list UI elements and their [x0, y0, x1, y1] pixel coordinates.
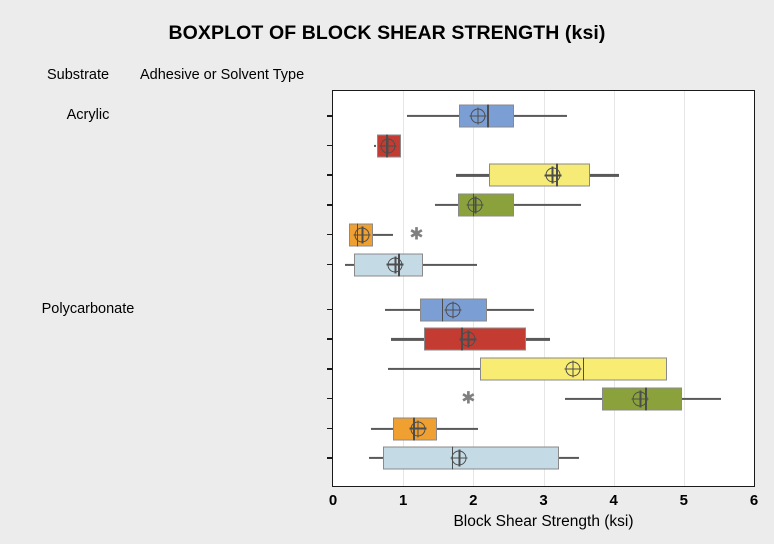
- substrate-column-header: Substrate: [47, 67, 109, 83]
- group-label: Acrylic: [18, 107, 158, 123]
- mean-marker: [565, 362, 580, 377]
- median-line: [583, 358, 585, 381]
- whisker-low: [388, 368, 480, 370]
- mean-marker: [388, 257, 403, 272]
- box-3: [489, 164, 589, 187]
- whisker-low: [369, 457, 382, 459]
- category-tick: [327, 428, 333, 430]
- mean-marker: [545, 168, 560, 183]
- category-tick: [327, 174, 333, 176]
- median-line: [487, 105, 489, 128]
- category-tick: [327, 398, 333, 400]
- gridline: [684, 91, 685, 486]
- adhesive-column-header: Adhesive or Solvent Type: [140, 67, 304, 83]
- whisker-high: [682, 398, 721, 400]
- whisker-high: [526, 338, 550, 340]
- x-tick-label: 0: [329, 492, 337, 509]
- whisker-high: [373, 234, 393, 236]
- group-label: Polycarbonate: [18, 301, 158, 317]
- whisker-high: [559, 457, 579, 459]
- mean-marker: [471, 109, 486, 124]
- outlier-marker: ✱: [409, 226, 423, 243]
- whisker-low: [345, 263, 354, 265]
- whisker-low: [371, 427, 393, 429]
- whisker-high: [514, 115, 567, 117]
- whisker-high: [590, 174, 619, 176]
- mean-marker: [452, 451, 467, 466]
- whisker-high: [487, 309, 535, 311]
- gridline: [544, 91, 545, 486]
- category-tick: [327, 234, 333, 236]
- box-12: [383, 447, 559, 470]
- category-tick: [327, 204, 333, 206]
- mean-marker: [445, 302, 460, 317]
- whisker-low: [407, 115, 459, 117]
- mean-marker: [633, 391, 648, 406]
- x-tick-label: 4: [609, 492, 617, 509]
- gridline: [614, 91, 615, 486]
- x-axis-title: Block Shear Strength (ksi): [332, 513, 755, 531]
- page-title: BOXPLOT OF BLOCK SHEAR STRENGTH (ksi): [0, 22, 774, 45]
- mean-marker: [461, 332, 476, 347]
- median-line: [442, 298, 444, 321]
- whisker-high: [437, 427, 478, 429]
- category-tick: [327, 309, 333, 311]
- whisker-high: [423, 263, 477, 265]
- x-tick-label: 6: [750, 492, 758, 509]
- mean-marker: [468, 198, 483, 213]
- category-tick: [327, 145, 333, 147]
- category-tick: [327, 338, 333, 340]
- plot-area: ✱✱: [332, 90, 755, 487]
- mean-marker: [380, 138, 395, 153]
- whisker-high: [514, 204, 581, 206]
- category-tick: [327, 457, 333, 459]
- outlier-marker: ✱: [461, 390, 475, 407]
- category-tick: [327, 368, 333, 370]
- whisker-low: [565, 398, 602, 400]
- whisker-low: [435, 204, 458, 206]
- boxplot-figure: BOXPLOT OF BLOCK SHEAR STRENGTH (ksi) Su…: [0, 0, 774, 544]
- category-tick: [327, 115, 333, 117]
- category-tick: [327, 264, 333, 266]
- mean-marker: [410, 421, 425, 436]
- x-tick-label: 1: [399, 492, 407, 509]
- x-tick-label: 5: [680, 492, 688, 509]
- x-tick-label: 3: [539, 492, 547, 509]
- whisker-low: [385, 309, 420, 311]
- x-tick-label: 2: [469, 492, 477, 509]
- mean-marker: [355, 227, 370, 242]
- whisker-low: [456, 174, 489, 176]
- whisker-low: [391, 338, 424, 340]
